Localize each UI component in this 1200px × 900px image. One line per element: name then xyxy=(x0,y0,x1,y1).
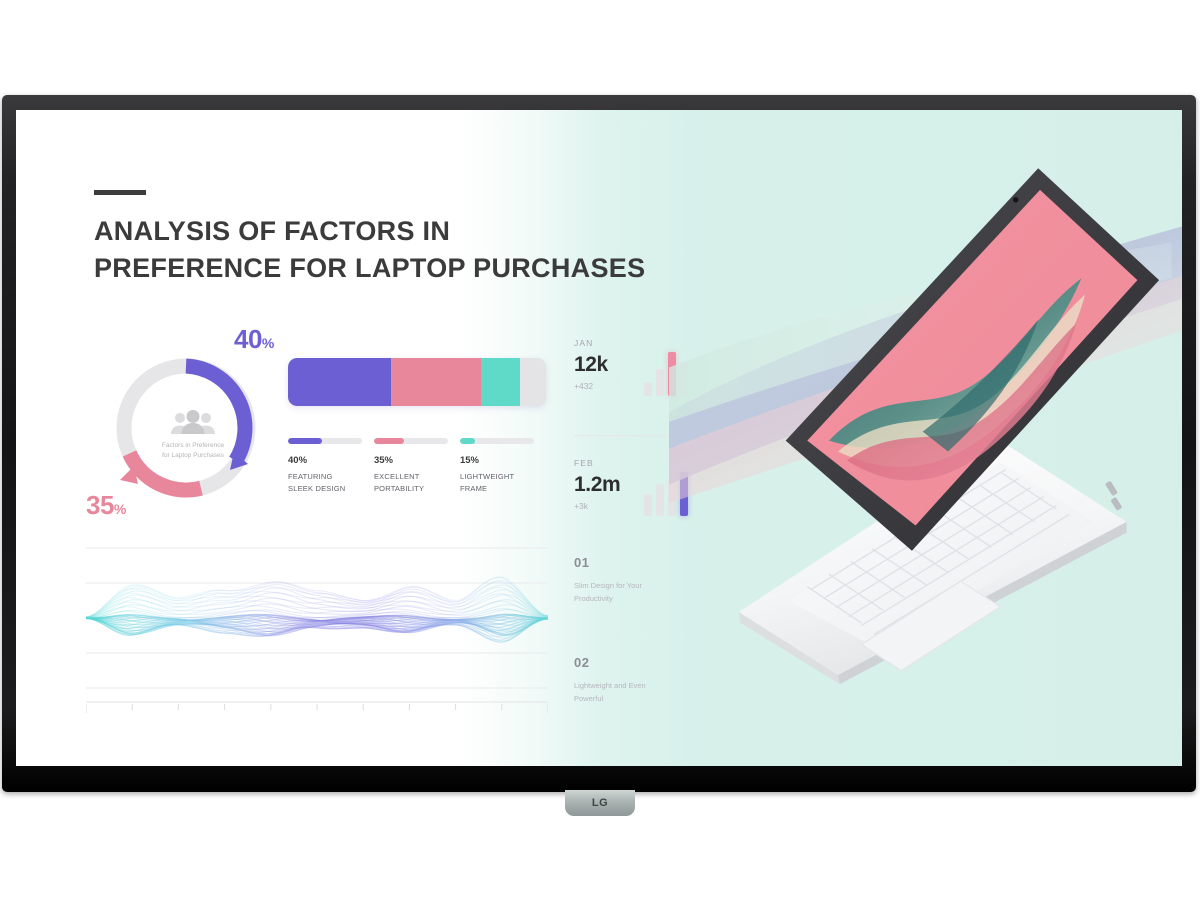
legend-percent: 35% xyxy=(374,455,460,466)
legend-item: 40%FEATURING SLEEK DESIGN xyxy=(288,438,374,496)
people-icon xyxy=(167,409,219,435)
monitor-frame: ANALYSIS OF FACTORS IN PREFERENCE FOR LA… xyxy=(2,95,1196,792)
donut-value-secondary: 35% xyxy=(86,490,126,521)
title-block: ANALYSIS OF FACTORS IN PREFERENCE FOR LA… xyxy=(94,190,645,288)
spark-bar xyxy=(656,369,664,396)
stacked-bar-segment xyxy=(288,358,391,406)
donut-value-secondary-symbol: % xyxy=(114,501,126,517)
stacked-bar-segment xyxy=(520,358,546,406)
slide-canvas: ANALYSIS OF FACTORS IN PREFERENCE FOR LA… xyxy=(16,110,1182,766)
legend-fill xyxy=(374,438,404,444)
page-title: ANALYSIS OF FACTORS IN PREFERENCE FOR LA… xyxy=(94,213,645,288)
brand-logo: LG xyxy=(592,797,608,809)
legend-item: 35%EXCELLENT PORTABILITY xyxy=(374,438,460,496)
legend-fill xyxy=(288,438,322,444)
stacked-bar-segment xyxy=(481,358,520,406)
legend-label: LIGHTWEIGHT FRAME xyxy=(460,471,546,496)
donut-value-primary: 40% xyxy=(234,324,274,355)
donut-value-primary-number: 40 xyxy=(234,324,262,354)
stacked-bar-segment xyxy=(391,358,481,406)
donut-value-secondary-number: 35 xyxy=(86,490,114,520)
legend-percent: 15% xyxy=(460,455,546,466)
stacked-bar-block: 40%FEATURING SLEEK DESIGN35%EXCELLENT PO… xyxy=(288,358,546,496)
legend-item: 15%LIGHTWEIGHT FRAME xyxy=(460,438,546,496)
monitor-stand: LG xyxy=(565,790,635,816)
legend-label: FEATURING SLEEK DESIGN xyxy=(288,471,374,496)
title-accent-rule xyxy=(94,190,146,195)
donut-center-label: Factors in Preference for Laptop Purchas… xyxy=(137,409,249,461)
donut-value-primary-symbol: % xyxy=(262,335,274,351)
donut-caption: Factors in Preference for Laptop Purchas… xyxy=(137,441,249,461)
laptop-illustration xyxy=(669,143,1182,720)
legend-track xyxy=(374,438,448,444)
monitor-screen: ANALYSIS OF FACTORS IN PREFERENCE FOR LA… xyxy=(16,110,1182,766)
spark-bar xyxy=(644,383,652,396)
legend-track xyxy=(288,438,362,444)
spark-bar xyxy=(644,494,652,516)
legend-percent: 40% xyxy=(288,455,374,466)
donut-chart: Factors in Preference for Laptop Purchas… xyxy=(88,340,298,530)
stacked-bar xyxy=(288,358,546,406)
spark-bar xyxy=(656,484,664,516)
legend-label: EXCELLENT PORTABILITY xyxy=(374,471,460,496)
waveform-chart-svg xyxy=(86,540,548,720)
legend-fill xyxy=(460,438,475,444)
legend-list: 40%FEATURING SLEEK DESIGN35%EXCELLENT PO… xyxy=(288,438,546,496)
waveform-chart xyxy=(86,540,548,720)
laptop-product-image xyxy=(669,143,1182,720)
legend-track xyxy=(460,438,534,444)
